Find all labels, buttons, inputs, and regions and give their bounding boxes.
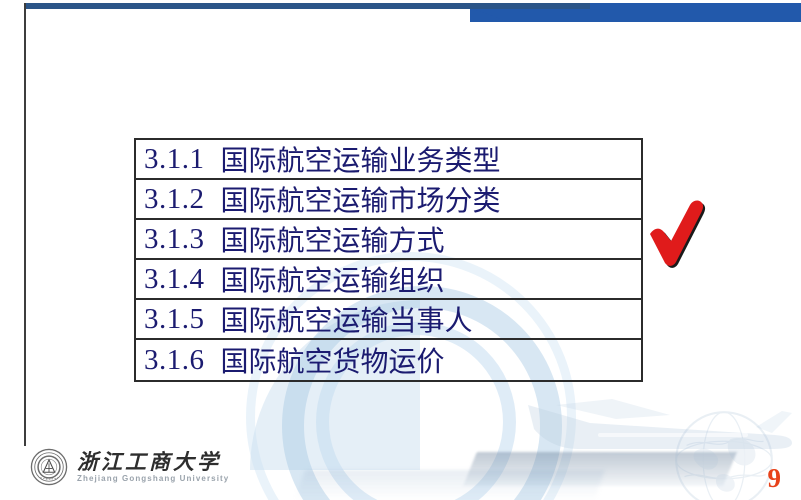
- row-number: 3.1.3: [144, 223, 205, 256]
- page-number: 9: [768, 465, 782, 492]
- row-number: 3.1.6: [144, 344, 205, 377]
- globe-watermark-icon: [672, 408, 776, 500]
- row-label: 国际航空运输方式: [221, 219, 445, 259]
- row-number: 3.1.2: [144, 183, 205, 216]
- slide-left-border: [24, 3, 26, 446]
- slide-canvas: 3.1.1 国际航空运输业务类型 3.1.2 国际航空运输市场分类 3.1.3 …: [0, 0, 801, 500]
- university-name-cn: 浙江工商大学: [77, 451, 229, 473]
- table-row[interactable]: 3.1.1 国际航空运输业务类型: [136, 140, 641, 180]
- contents-table: 3.1.1 国际航空运输业务类型 3.1.2 国际航空运输市场分类 3.1.3 …: [134, 138, 643, 382]
- row-label: 国际航空运输市场分类: [221, 179, 501, 219]
- row-label: 国际航空货物运价: [221, 340, 445, 380]
- airplane-watermark-icon: [520, 375, 800, 465]
- row-number: 3.1.5: [144, 303, 205, 336]
- table-row[interactable]: 3.1.5 国际航空运输当事人: [136, 300, 641, 340]
- header-curve-shape: [470, 3, 590, 22]
- row-label: 国际航空运输当事人: [221, 299, 473, 339]
- university-name-en: Zhejiang Gongshang University: [77, 474, 229, 483]
- university-name-block: 浙江工商大学 Zhejiang Gongshang University: [77, 451, 229, 483]
- background-slab: [463, 452, 737, 486]
- table-row[interactable]: 3.1.4 国际航空运输组织: [136, 260, 641, 300]
- table-row[interactable]: 3.1.6 国际航空货物运价: [136, 340, 641, 380]
- table-row[interactable]: 3.1.3 国际航空运输方式: [136, 220, 641, 260]
- red-check-icon: [648, 200, 710, 270]
- university-logo: · 浙江工商大学 Zhejiang Gongshang University: [30, 448, 229, 486]
- row-number: 3.1.1: [144, 143, 205, 176]
- row-label: 国际航空运输组织: [221, 259, 445, 299]
- row-label: 国际航空运输业务类型: [221, 139, 501, 179]
- table-row[interactable]: 3.1.2 国际航空运输市场分类: [136, 180, 641, 220]
- background-slab-secondary: [295, 470, 605, 500]
- row-number: 3.1.4: [144, 263, 205, 296]
- university-seal-icon: ·: [30, 448, 68, 486]
